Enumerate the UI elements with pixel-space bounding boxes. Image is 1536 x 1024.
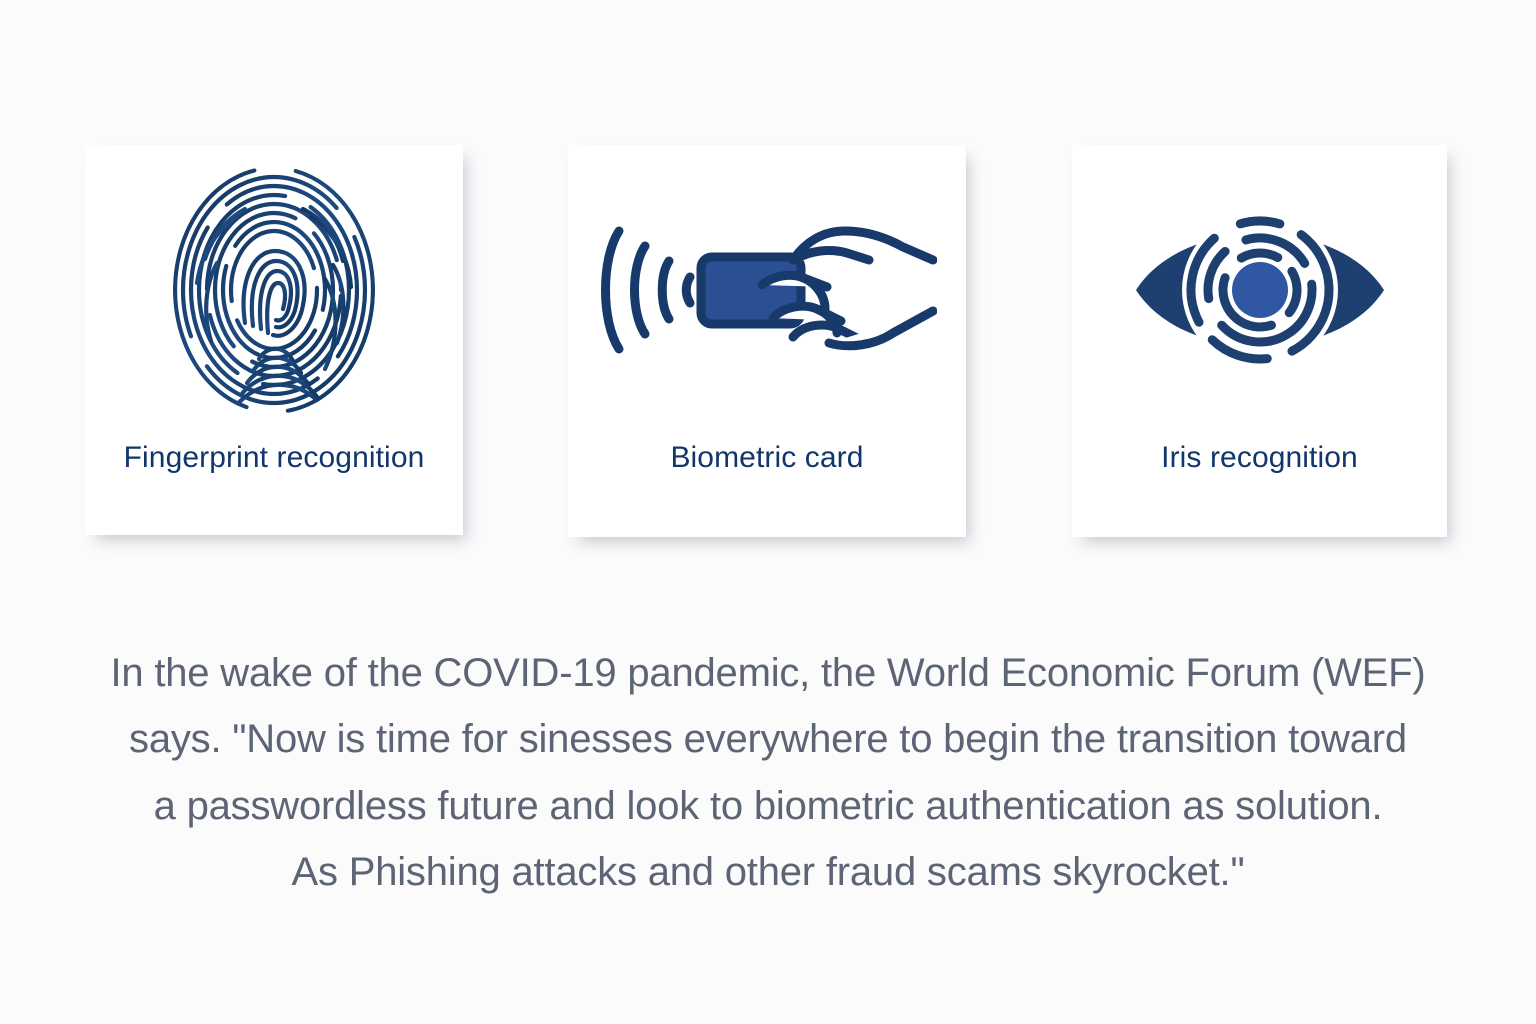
quote-paragraph: In the wake of the COVID-19 pandemic, th… bbox=[90, 640, 1446, 906]
biometric-card-row: Fingerprint recognition bbox=[0, 145, 1536, 537]
card-label-biometric-card: Biometric card bbox=[670, 443, 863, 473]
quote-line-1: In the wake of the COVID-19 pandemic, th… bbox=[90, 640, 1446, 706]
card-label-fingerprint: Fingerprint recognition bbox=[124, 443, 425, 473]
contactless-card-hand-icon bbox=[597, 215, 937, 365]
fingerprint-icon-area bbox=[85, 145, 463, 435]
iris-icon-area bbox=[1072, 145, 1447, 435]
card-iris-recognition[interactable]: Iris recognition bbox=[1072, 145, 1447, 537]
pupil bbox=[1232, 262, 1288, 318]
iris-eye-icon bbox=[1132, 197, 1388, 383]
card-fingerprint-recognition[interactable]: Fingerprint recognition bbox=[85, 145, 463, 535]
slide-root: Fingerprint recognition bbox=[0, 0, 1536, 1024]
quote-line-4: As Phishing attacks and other fraud scam… bbox=[90, 839, 1446, 905]
quote-line-3: a passwordless future and look to biomet… bbox=[90, 773, 1446, 839]
card-biometric-card[interactable]: Biometric card bbox=[568, 145, 966, 537]
card-label-iris: Iris recognition bbox=[1161, 443, 1358, 473]
contactless-card-icon-area bbox=[568, 145, 966, 435]
fingerprint-icon bbox=[167, 163, 382, 418]
quote-line-2: says. "Now is time for sinesses everywhe… bbox=[90, 706, 1446, 772]
